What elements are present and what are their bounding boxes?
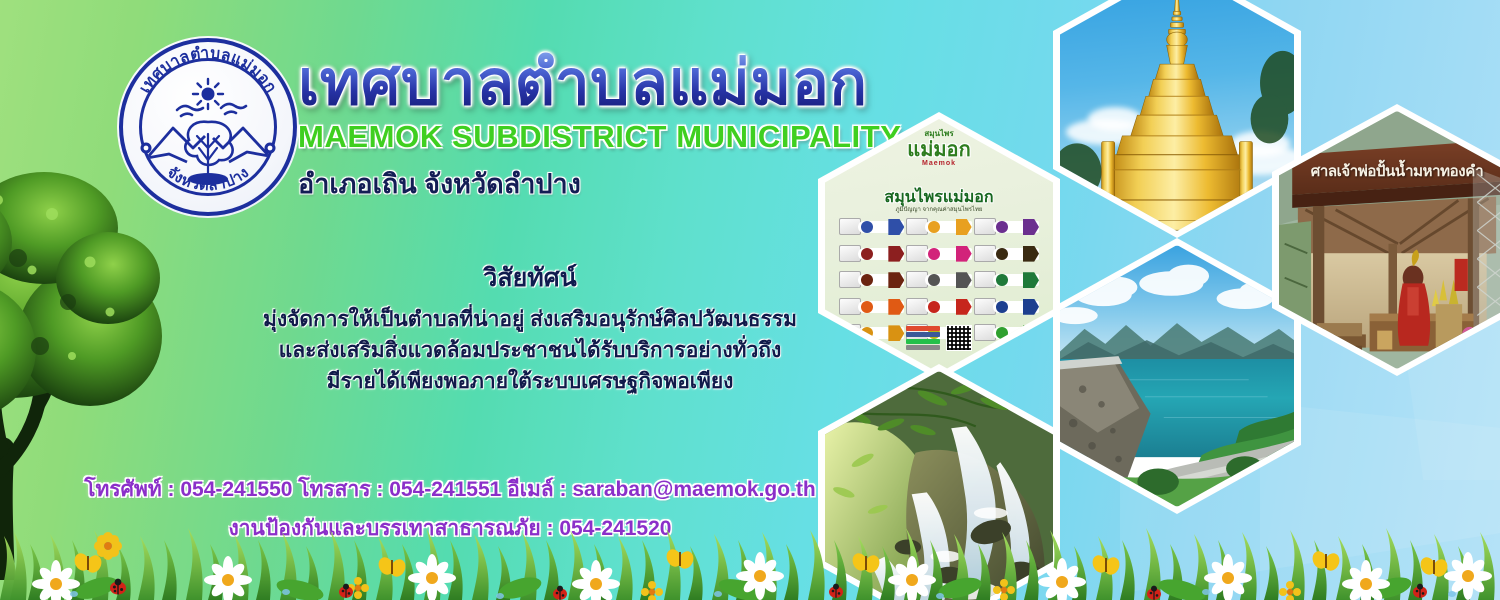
herbal-product-item (839, 297, 904, 317)
header-title-block: เทศบาลตำบลแม่มอก MAEMOK SUBDISTRICT MUNI… (298, 52, 902, 205)
hexagon-waterfall-inner (825, 371, 1053, 600)
herbal-product-item (974, 297, 1039, 317)
hexagon-waterfall[interactable] (818, 364, 1060, 600)
page-subtitle-district: อำเภอเถิน จังหวัดลำปาง (298, 162, 902, 205)
page-title-english: MAEMOK SUBDISTRICT MUNICIPALITY (298, 119, 902, 155)
shrine-pavilion-icon (1279, 111, 1500, 369)
vision-line-3: มีรายได้เพียงพอภายใต้ระบบเศรษฐกิจพอเพียง (190, 366, 870, 397)
reservoir-landscape-icon (1060, 245, 1294, 507)
hexagon-shrine-inner: ศาลเจ้าพ่อปั้นน้ำมหาทองคำ (1279, 111, 1500, 369)
ladybug-icon (110, 579, 1427, 600)
pagoda-caption-line-3: อำเภอ (1263, 0, 1288, 7)
vision-heading: วิสัยทัศน์ (190, 258, 870, 298)
daisy-flower-icon (32, 552, 1492, 600)
tree-icon (0, 150, 240, 580)
herbal-product-item (839, 244, 904, 264)
hexagon-shrine[interactable]: ศาลเจ้าพ่อปั้นน้ำมหาทองคำ (1272, 104, 1500, 376)
pagoda-caption: วัดท บ้านกุ่ม อำเภอ (1263, 0, 1288, 7)
hexagon-herbal-inner: สมุนไพร แม่มอก Maemok สมุนไพรแม่มอก ภูมิ… (825, 119, 1053, 373)
herbal-logo-name: แม่มอก (864, 140, 1014, 160)
waterfall-icon (825, 371, 1053, 600)
herbal-product-item (974, 323, 1039, 343)
page-title-thai: เทศบาลตำบลแม่มอก (298, 52, 902, 115)
tree-decoration (0, 150, 240, 580)
herbal-poster-subtitle: ภูมิปัญญา จากคุณค่าสมุนไพรไทย (825, 204, 1053, 214)
herbal-product-item (906, 297, 971, 317)
shrine-caption: ศาลเจ้าพ่อปั้นน้ำมหาทองคำ (1279, 159, 1500, 183)
herbal-product-item (974, 217, 1039, 237)
vision-line-2: และส่งเสริมสิ่งแวดล้อมประชาชนได้รับบริกา… (190, 335, 870, 366)
hexagon-golden-pagoda[interactable]: วัดท บ้านกุ่ม อำเภอ (1053, 0, 1301, 238)
hexagon-reservoir-dam[interactable] (1053, 238, 1301, 514)
vision-line-1: มุ่งจัดการให้เป็นตำบลที่น่าอยู่ ส่งเสริม… (190, 304, 870, 335)
butterfly-icon (72, 547, 1450, 579)
herbal-product-item (974, 270, 1039, 290)
herbal-product-item (906, 244, 971, 264)
herbal-product-item (839, 270, 904, 290)
herbal-product-item (839, 217, 904, 237)
herbal-logo-latin: Maemok (864, 160, 1014, 167)
pagoda-icon (1060, 0, 1294, 231)
herbal-product-item (906, 217, 971, 237)
hexagon-pagoda-inner: วัดท บ้านกุ่ม อำเภอ (1060, 0, 1294, 231)
dew-drop-icon (70, 589, 1456, 599)
herbal-qr-contact (906, 325, 972, 351)
herbal-product-item (906, 270, 971, 290)
herbal-product-item (974, 244, 1039, 264)
hexagon-dam-inner (1060, 245, 1294, 507)
municipality-banner: เทศบาลตำบลแม่มอก จังหวัดลำปาง เทศบาลตำบล… (0, 0, 1500, 600)
herbal-social-lines (906, 326, 940, 351)
vision-statement: วิสัยทัศน์ มุ่งจัดการให้เป็นตำบลที่น่าอย… (190, 258, 870, 397)
qr-code-icon (946, 325, 972, 351)
